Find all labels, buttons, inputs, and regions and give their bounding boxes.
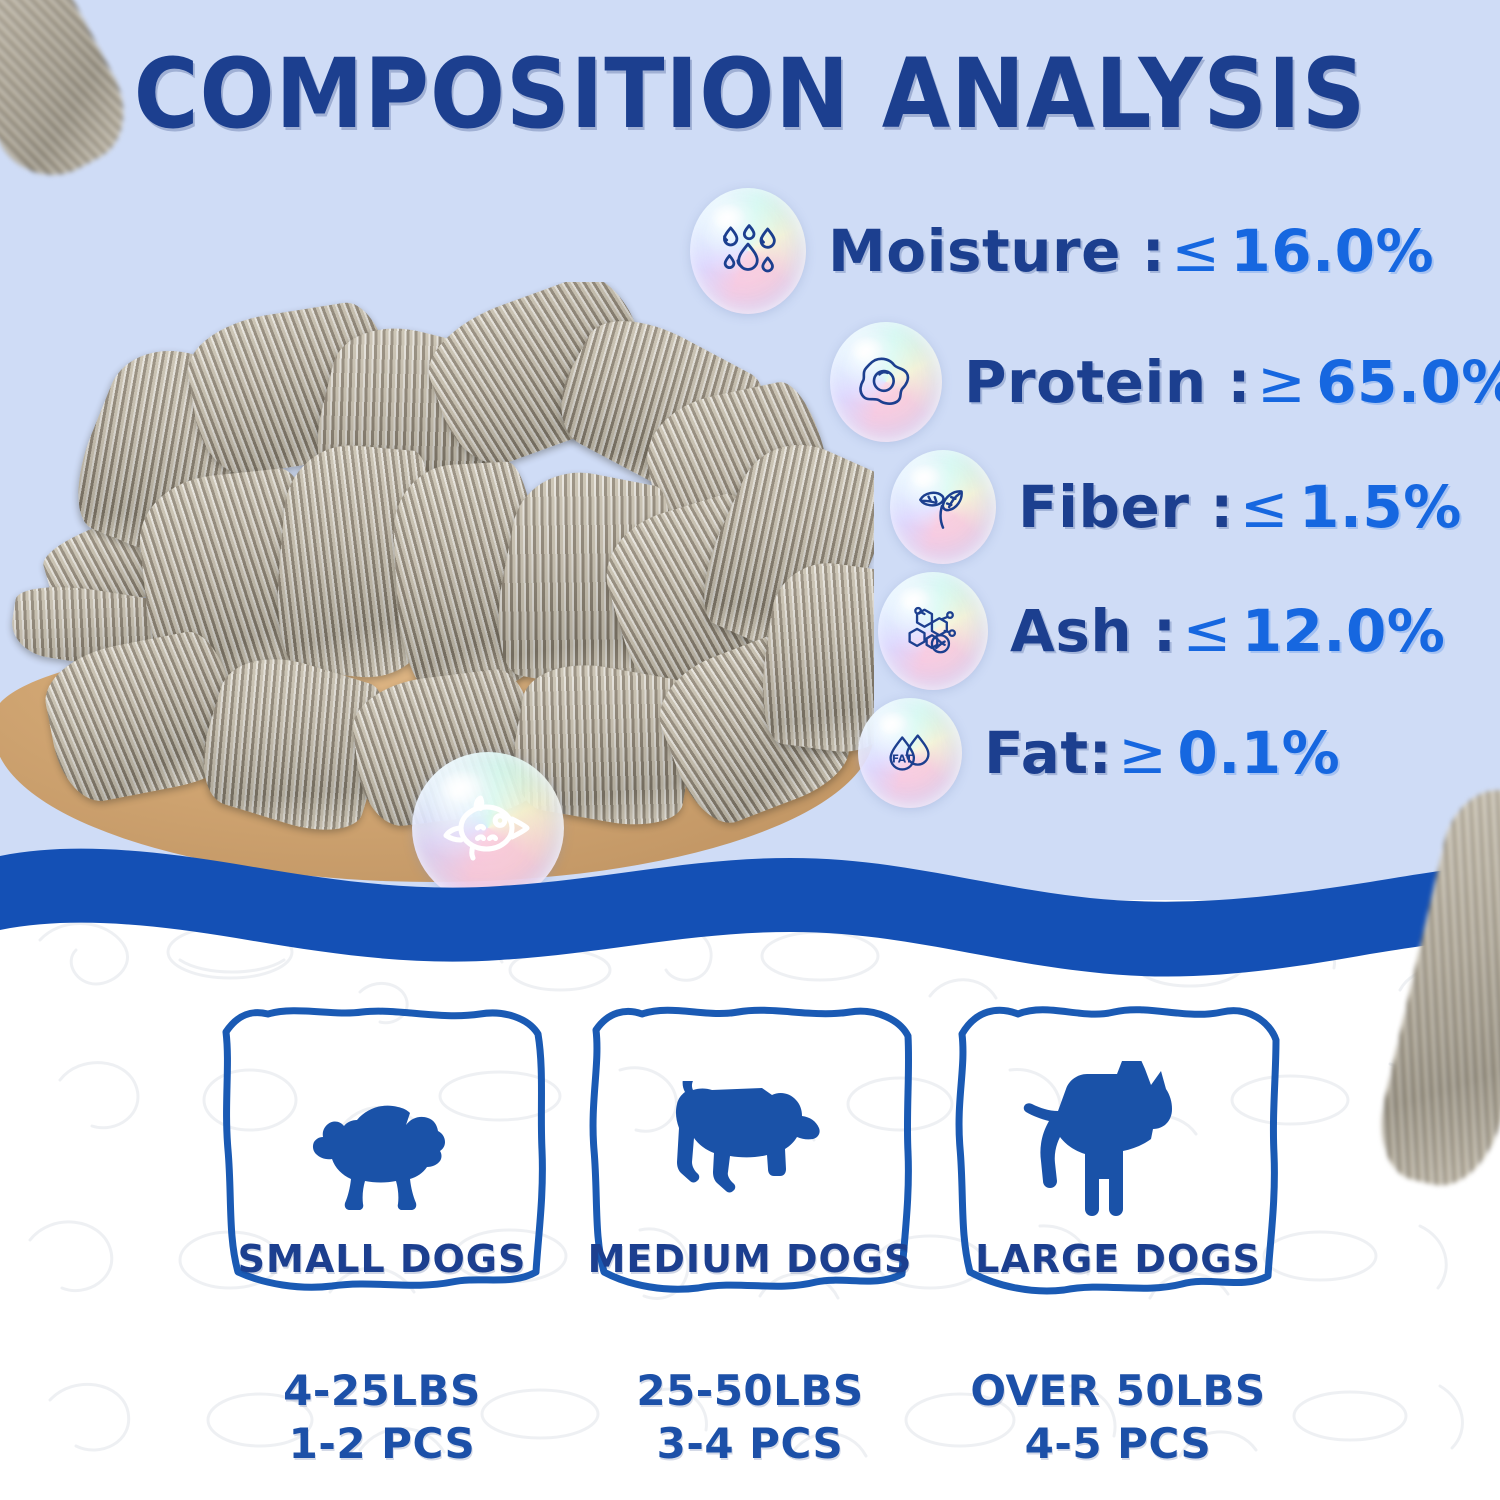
- fried-egg-icon: [830, 322, 942, 442]
- nutrient-list: Moisture : ≤ 16.0% Protein : ≥ 65.0%: [690, 188, 1480, 816]
- nutrient-row-fiber: Fiber : ≤ 1.5%: [890, 450, 1480, 564]
- card-subtitle: OVER 50LBS 4-5 PCS: [970, 1365, 1265, 1470]
- card-subtitle: 4-25LBS 1-2 PCS: [283, 1365, 481, 1470]
- card-pieces: 3-4 PCS: [636, 1418, 863, 1471]
- nutrient-operator: ≤: [1240, 473, 1289, 541]
- svg-text:FAT: FAT: [892, 753, 913, 766]
- nutrient-value: 1.5%: [1299, 473, 1462, 541]
- card-weight: 4-25LBS: [283, 1365, 481, 1418]
- fat-drop-icon: FAT: [858, 698, 962, 808]
- leaf-icon: [890, 450, 996, 564]
- molecule-icon: [878, 572, 988, 690]
- feeding-card-medium: MEDIUM DOGS 25-50LBS 3-4 PCS: [580, 1000, 920, 1470]
- page-title: COMPOSITION ANALYSIS: [60, 44, 1440, 145]
- nutrient-label: Ash :: [1010, 597, 1177, 665]
- nutrient-label: Protein :: [964, 348, 1251, 416]
- composition-analysis-poster: COMPOSITION ANALYSIS: [0, 0, 1500, 1500]
- nutrient-value: 16.0%: [1230, 217, 1434, 285]
- fish-icon: [412, 752, 564, 904]
- card-subtitle: 25-50LBS 3-4 PCS: [636, 1365, 863, 1470]
- card-title: MEDIUM DOGS: [588, 1237, 913, 1281]
- small-dog-icon: [307, 1028, 457, 1231]
- nutrient-value: 0.1%: [1177, 719, 1340, 787]
- nutrient-row-protein: Protein : ≥ 65.0%: [830, 322, 1480, 442]
- nutrient-row-moisture: Moisture : ≤ 16.0%: [690, 188, 1480, 314]
- card-weight: 25-50LBS: [636, 1365, 863, 1418]
- card-pieces: 1-2 PCS: [283, 1418, 481, 1471]
- large-dog-icon: [1023, 1028, 1213, 1231]
- nutrient-value: 12.0%: [1242, 597, 1446, 665]
- card-pieces: 4-5 PCS: [970, 1418, 1265, 1471]
- nutrient-operator: ≥: [1118, 719, 1167, 787]
- water-drops-icon: [690, 188, 806, 314]
- nutrient-row-fat: FAT Fat: ≥ 0.1%: [858, 698, 1480, 808]
- nutrient-operator: ≥: [1257, 348, 1306, 416]
- feeding-card-large: LARGE DOGS OVER 50LBS 4-5 PCS: [948, 1000, 1288, 1470]
- feeding-guide-cards: SMALL DOGS 4-25LBS 1-2 PCS MEDIUM DOGS 2…: [0, 1000, 1500, 1470]
- nutrient-value: 65.0%: [1316, 348, 1500, 416]
- card-weight: OVER 50LBS: [970, 1365, 1265, 1418]
- nutrient-operator: ≤: [1183, 597, 1232, 665]
- nutrient-label: Fat:: [984, 719, 1112, 787]
- card-title: SMALL DOGS: [238, 1237, 527, 1281]
- nutrient-row-ash: Ash : ≤ 12.0%: [878, 572, 1480, 690]
- feeding-card-small: SMALL DOGS 4-25LBS 1-2 PCS: [212, 1000, 552, 1470]
- nutrient-operator: ≤: [1171, 217, 1220, 285]
- card-title: LARGE DOGS: [975, 1237, 1261, 1281]
- medium-dog-icon: [662, 1028, 838, 1231]
- nutrient-label: Fiber :: [1018, 473, 1234, 541]
- nutrient-label: Moisture :: [828, 217, 1165, 285]
